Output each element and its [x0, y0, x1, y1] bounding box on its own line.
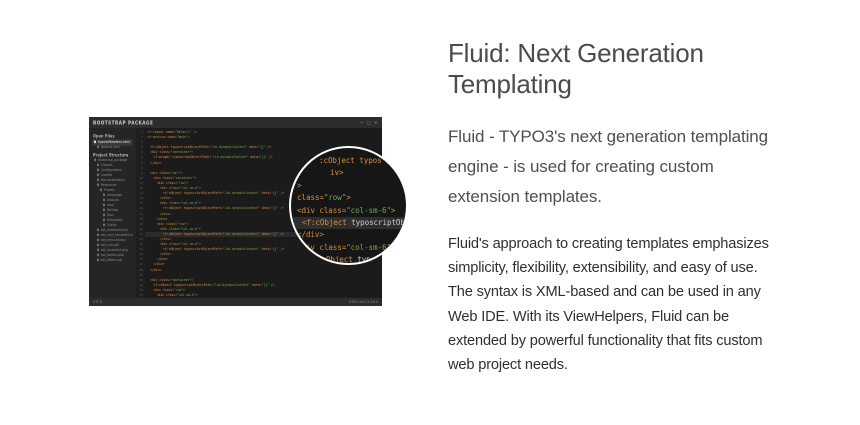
code-token: > [188, 135, 190, 139]
code-token: </div> [160, 237, 171, 241]
code-token: typoscriptObjectPath= [184, 191, 223, 195]
code-token: name= [166, 130, 175, 134]
code-token: /> [279, 206, 285, 210]
code-token: /> [192, 130, 198, 134]
code-token: "{}" [260, 155, 267, 159]
code-token: typoscriptOb [351, 218, 405, 227]
code-token: > [391, 243, 395, 252]
file-icon [103, 213, 105, 216]
code-token: > [186, 181, 188, 185]
file-icon [103, 208, 105, 211]
sidebar-section-heading: Open Files [93, 133, 133, 138]
minimize-icon[interactable]: — [360, 121, 364, 125]
code-token: <f:cObject [302, 218, 351, 227]
code-token: class= [160, 150, 171, 154]
code-token: "lib.dynamicContent" [210, 145, 247, 149]
magnified-code-line: iv> [295, 167, 406, 179]
page-title: Fluid: Next Generation Templating [448, 0, 788, 100]
code-token: > [191, 150, 193, 154]
file-icon [97, 178, 99, 181]
code-token: /> [279, 232, 285, 236]
code-token: </div> [160, 212, 171, 216]
code-token: "container" [174, 176, 195, 180]
code-token: class= [160, 171, 171, 175]
code-token: "lib.dynamicContent" [223, 191, 260, 195]
code-token: data= [260, 247, 271, 251]
code-token: "lib.dynamicContent" [223, 232, 260, 236]
file-icon [97, 145, 99, 148]
code-token: <div [160, 242, 169, 246]
code-token: class= [160, 278, 171, 282]
code-token: </div> [153, 262, 164, 266]
magnified-code-line: class="row"> [295, 192, 406, 204]
code-token: data= [260, 232, 271, 236]
code-token: <div [157, 181, 166, 185]
code-token: class= [166, 293, 177, 297]
magnified-code-line: :cObject typos [295, 155, 406, 167]
code-token: :cObject typos [319, 156, 382, 165]
file-icon [97, 243, 99, 246]
file-icon [103, 198, 105, 201]
code-token: "col-sm-6" [180, 186, 199, 190]
code-token: > [199, 227, 201, 231]
file-icon [97, 238, 99, 241]
code-token: <f:cObject [163, 206, 184, 210]
magnified-code-line: <div class="col-sm-6"> [295, 242, 406, 254]
code-token: </div> [150, 161, 161, 165]
code-token: class= [169, 186, 180, 190]
code-token: data= [248, 155, 259, 159]
code-token: <f:section [147, 135, 168, 139]
code-token: "col-sm-6" [180, 201, 199, 205]
file-icon [97, 233, 99, 236]
code-token: class= [319, 243, 346, 252]
code-token: > [297, 181, 301, 190]
status-right-text: HTML Line 21 Col 8 [349, 300, 378, 305]
code-token: "lib.dynamicContent" [213, 283, 250, 287]
code-token: > [186, 222, 188, 226]
code-token: > [191, 278, 193, 282]
file-icon [97, 248, 99, 251]
sidebar-section-heading: Project Structure [93, 152, 133, 157]
code-token: "{}" [271, 247, 278, 251]
editor-statusbar: UTF-8 HTML Line 21 Col 8 [89, 298, 382, 306]
file-icon [103, 203, 105, 206]
editor-title: BOOTSTRAP PACKAGE [93, 119, 153, 125]
code-token: > [199, 242, 201, 246]
code-token: class= [169, 227, 180, 231]
code-token: > [199, 201, 201, 205]
file-icon [100, 188, 102, 191]
file-icon [97, 228, 99, 231]
code-token: class= [169, 201, 180, 205]
code-token: typoscriptObjectPath= [171, 145, 210, 149]
code-token: typoscriptObjectPath= [172, 155, 211, 159]
file-icon [103, 223, 105, 226]
code-token: data= [247, 145, 258, 149]
code-token: "{}" [258, 145, 265, 149]
code-token: > [199, 186, 201, 190]
code-token: </div> [160, 252, 171, 256]
code-token: "lib.dynamicContent" [211, 155, 248, 159]
sidebar-tree-item-label: ext_tables.sql [101, 257, 122, 262]
close-icon[interactable]: ✕ [374, 121, 378, 125]
article-body: Fluid's approach to creating templates e… [448, 232, 774, 377]
code-token: class= [319, 206, 346, 215]
code-token: /> [279, 247, 285, 251]
code-token: <f:cObject [153, 283, 174, 287]
code-token: "col-sm-6" [180, 242, 199, 246]
figure-column: BOOTSTRAP PACKAGE — □ ✕ Open FilesSpecia… [0, 0, 430, 425]
status-left-text: UTF-8 [93, 300, 102, 305]
code-token: <div [150, 278, 159, 282]
code-token: "{}" [271, 191, 278, 195]
magnifier-loupe: :cObject typosiv>>class="row"><div class… [289, 146, 408, 265]
magnified-code-line: > [295, 180, 406, 192]
code-token: "{}" [261, 283, 268, 287]
code-token: "container" [171, 278, 192, 282]
magnified-code-line: </div> [295, 229, 406, 241]
code-token: /> [269, 283, 275, 287]
code-token: class= [163, 176, 174, 180]
code-token: /> [266, 145, 272, 149]
file-icon [97, 168, 99, 171]
code-token: <div [150, 150, 159, 154]
code-token: "col-sm-6" [346, 243, 391, 252]
sidebar-tree-item[interactable]: Default.html [92, 144, 133, 150]
code-token: <div [297, 243, 319, 252]
code-token: class= [163, 288, 174, 292]
code-token: > [391, 206, 395, 215]
code-token: </div> [157, 217, 168, 221]
code-token: <f:widget [153, 155, 172, 159]
code-token: "{}" [271, 206, 278, 210]
code-token: "lib.dynamicContent" [223, 206, 260, 210]
article-intro: Fluid - TYPO3's next generation templati… [448, 122, 788, 212]
code-token: name= [168, 135, 177, 139]
file-icon [97, 258, 99, 261]
code-token: <div [150, 171, 159, 175]
editor-line-number-gutter: 1234567891011121314151617181920212223242… [136, 128, 145, 298]
code-token: <f:cObject [150, 145, 171, 149]
editor-sidebar[interactable]: Open FilesSpecialHeaders.htmlDefault.htm… [89, 128, 136, 298]
code-token: <div [160, 186, 169, 190]
code-token: iv> [330, 168, 343, 177]
code-token: /> [279, 191, 285, 195]
file-icon [97, 253, 99, 256]
code-token: "row" [324, 193, 346, 202]
code-token: "main" [177, 135, 188, 139]
code-token: <div [297, 206, 319, 215]
file-icon [97, 173, 99, 176]
file-icon [94, 140, 96, 143]
code-token: </div> [297, 230, 324, 239]
code-token: <div [153, 176, 162, 180]
code-token: > [196, 293, 198, 297]
code-token: typoscript [357, 255, 402, 264]
file-icon [97, 183, 99, 186]
code-token: > [346, 193, 350, 202]
code-token: <div [157, 222, 166, 226]
code-token: class= [169, 242, 180, 246]
article-column: Fluid: Next Generation Templating Fluid … [448, 0, 788, 425]
code-token: "row" [174, 288, 183, 292]
file-icon [94, 158, 96, 161]
window-controls[interactable]: — □ ✕ [360, 121, 378, 125]
code-token: "lib.dynamicContent" [223, 247, 260, 251]
code-token: data= [250, 283, 261, 287]
editor-titlebar: BOOTSTRAP PACKAGE — □ ✕ [89, 117, 382, 128]
code-token: </div> [160, 196, 171, 200]
file-icon [103, 193, 105, 196]
file-icon [103, 218, 105, 221]
code-token: <f:cObject [308, 255, 357, 264]
sidebar-tree-item[interactable]: ext_tables.sql [92, 257, 133, 263]
page-root: BOOTSTRAP PACKAGE — □ ✕ Open FilesSpecia… [0, 0, 860, 425]
sidebar-tree-item-label: SpecialHeaders.html [98, 139, 130, 144]
code-token: > [183, 288, 185, 292]
code-token: class= [166, 222, 177, 226]
code-token: typoscriptObjectPath= [174, 283, 213, 287]
code-token: "Default" [175, 130, 192, 134]
code-token: class= [297, 193, 324, 202]
file-icon [97, 163, 99, 166]
code-token: </div> [157, 257, 168, 261]
code-token: <f:cObject [163, 191, 184, 195]
magnifier-content: :cObject typosiv>>class="row"><div class… [291, 148, 406, 263]
code-token: <f:cObject [163, 232, 184, 236]
code-token: > [194, 176, 196, 180]
code-token: <div [157, 293, 166, 297]
code-token: <div [160, 227, 169, 231]
code-token: "col-sm-6" [346, 206, 391, 215]
code-token: <f:layout [147, 130, 166, 134]
code-token: </div> [150, 268, 161, 272]
code-token: /> [267, 155, 273, 159]
code-token: <div [160, 201, 169, 205]
code-token: "col-sm-6" [177, 293, 196, 297]
sidebar-tree-item-label: Default.html [101, 144, 120, 149]
code-token: typoscriptObjectPath= [184, 232, 223, 236]
code-token: data= [260, 206, 271, 210]
code-token: "col" [171, 171, 180, 175]
code-token: > [180, 171, 182, 175]
magnified-code-line: <f:cObject typoscriptOb [289, 217, 406, 229]
maximize-icon[interactable]: □ [367, 121, 371, 125]
code-token: "container" [171, 150, 192, 154]
code-token: <div [153, 288, 162, 292]
code-token: data= [260, 191, 271, 195]
code-token: class= [166, 181, 177, 185]
magnified-code-line: <div class="col-sm-6"> [295, 205, 406, 217]
code-token: <f:cObject [163, 247, 184, 251]
code-token: typoscriptObjectPath= [184, 206, 223, 210]
code-token: "{}" [271, 232, 278, 236]
code-token: typoscriptObjectPath= [184, 247, 223, 251]
code-token: "col-sm-6" [180, 227, 199, 231]
